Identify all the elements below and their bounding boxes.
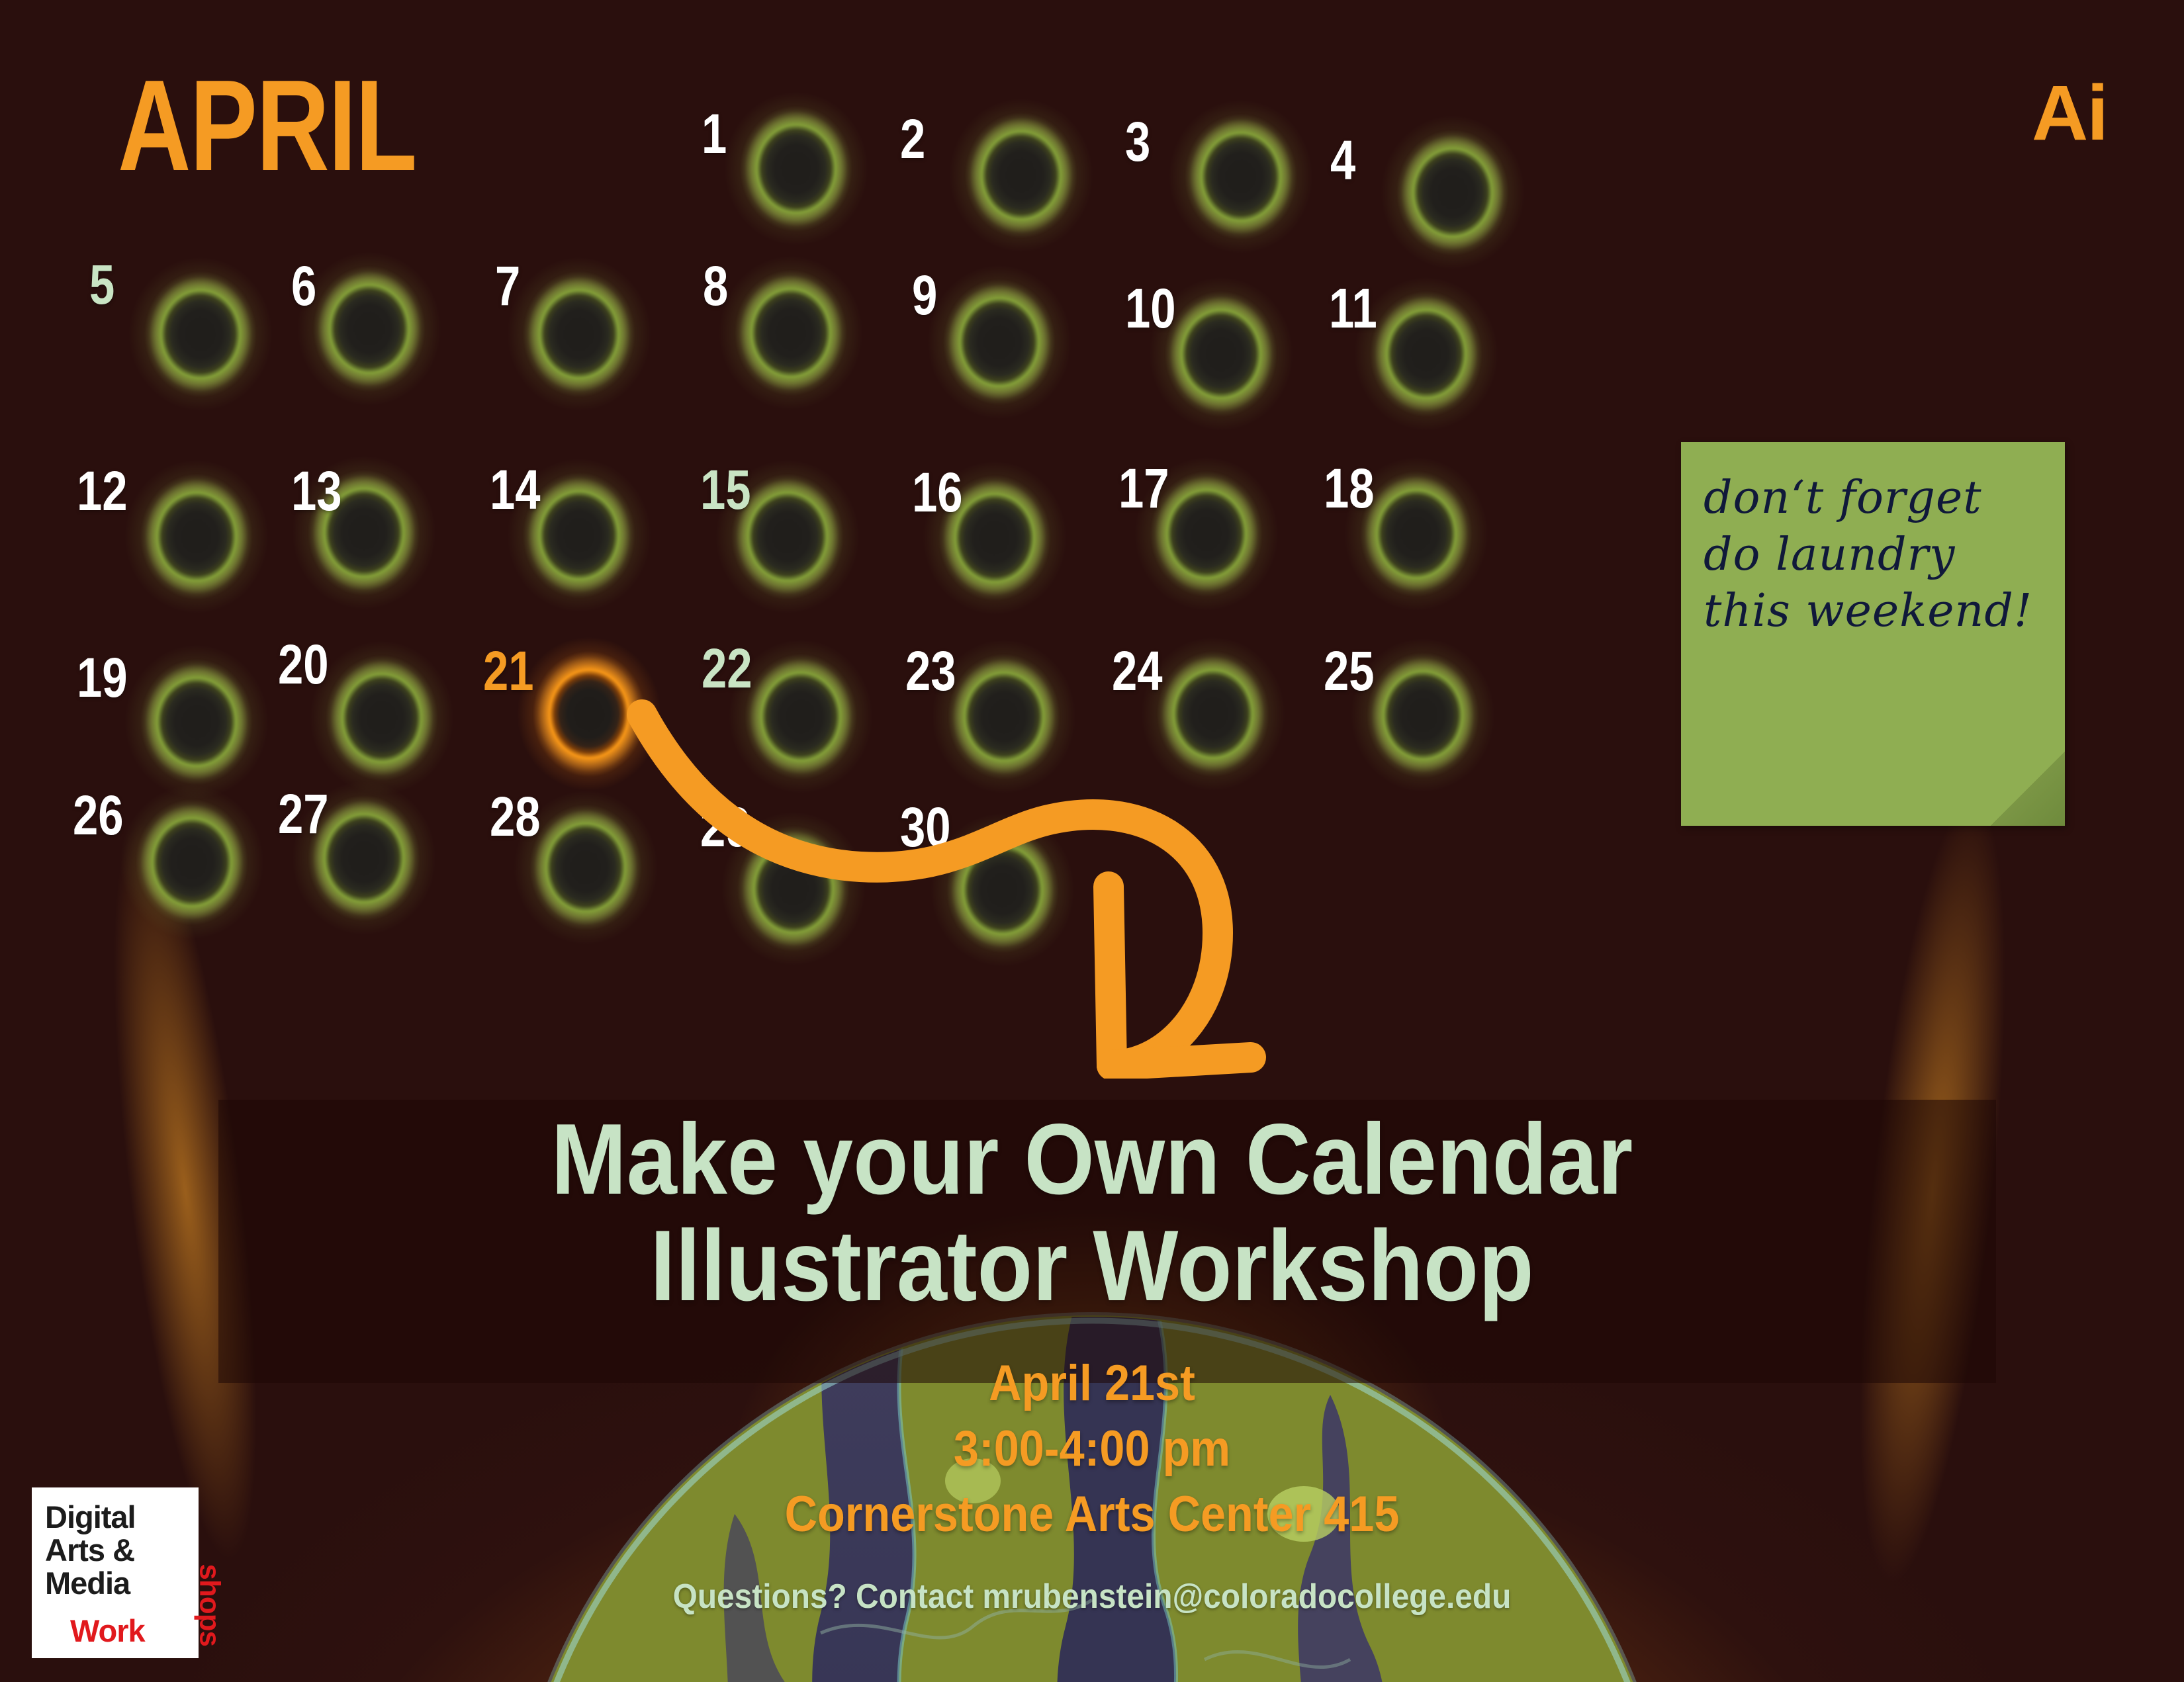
day-number: 4 xyxy=(1330,132,1355,188)
day-number: 29 xyxy=(700,799,751,855)
day-circle-icon xyxy=(1185,114,1297,240)
dam-logo-shops: shops xyxy=(193,1564,226,1646)
day-number: 13 xyxy=(291,463,342,519)
event-details: April 21st 3:00-4:00 pm Cornerstone Arts… xyxy=(109,1351,2075,1547)
day-number: 2 xyxy=(900,111,925,167)
day-circle-icon xyxy=(136,799,248,925)
dam-logo-line-1: Digital xyxy=(45,1501,188,1534)
day-number: 3 xyxy=(1125,114,1150,169)
day-number: 21 xyxy=(483,643,534,699)
event-info-block: Make your Own Calendar Illustrator Works… xyxy=(0,1106,2184,1614)
day-number: 15 xyxy=(700,462,751,517)
day-number: 17 xyxy=(1118,461,1169,516)
day-number: 23 xyxy=(905,643,956,699)
day-circle-icon xyxy=(745,654,857,779)
day-circle-icon xyxy=(529,805,642,930)
day-circle-icon xyxy=(1157,651,1269,777)
day-number: 22 xyxy=(702,641,752,696)
day-number: 8 xyxy=(703,258,728,314)
day-number: 11 xyxy=(1329,281,1377,336)
illustrator-ai-icon: Ai xyxy=(2032,74,2107,152)
day-circle-icon xyxy=(735,270,847,396)
dam-logo-line-3: Media xyxy=(45,1567,188,1600)
day-circle-icon xyxy=(946,827,1059,953)
event-time: 3:00-4:00 pm xyxy=(109,1417,2075,1482)
day-number: 5 xyxy=(89,257,114,312)
day-number: 16 xyxy=(912,465,963,520)
day-circle-icon xyxy=(140,659,253,785)
day-circle-icon xyxy=(523,271,635,397)
day-circle-icon xyxy=(1360,471,1473,597)
day-number: 24 xyxy=(1112,643,1163,699)
day-number: 28 xyxy=(490,789,541,844)
dam-logo-lines: Digital Arts & Media xyxy=(45,1501,188,1599)
day-circle-icon xyxy=(326,655,438,781)
day-number: 6 xyxy=(291,258,316,314)
day-circle-icon xyxy=(140,474,253,599)
day-circle-icon xyxy=(737,826,850,952)
day-circle-icon xyxy=(144,271,257,397)
day-number: 27 xyxy=(278,786,329,842)
event-title-line-2: Illustrator Workshop xyxy=(109,1213,2075,1319)
day-number: 7 xyxy=(495,258,520,314)
sticky-note-fold-icon xyxy=(1991,752,2065,826)
day-circle-icon xyxy=(1165,291,1277,417)
day-number: 20 xyxy=(278,637,329,692)
day-number: 1 xyxy=(702,106,727,161)
event-title: Make your Own Calendar Illustrator Works… xyxy=(109,1106,2075,1319)
day-number: 12 xyxy=(77,463,128,519)
poster-canvas: APRIL Ai 1234567891011121314151617181920… xyxy=(0,0,2184,1682)
day-circle-icon xyxy=(313,266,426,392)
day-circle-icon xyxy=(948,654,1060,779)
event-date: April 21st xyxy=(109,1351,2075,1417)
event-location: Cornerstone Arts Center 415 xyxy=(109,1482,2075,1548)
dam-logo-line-2: Arts & xyxy=(45,1534,188,1567)
calendar-grid: 1234567891011121314151617181920212223242… xyxy=(0,0,1522,959)
event-title-line-1: Make your Own Calendar xyxy=(109,1106,2075,1213)
day-circle-icon xyxy=(1367,652,1479,778)
day-circle-icon xyxy=(740,106,852,232)
sticky-note[interactable]: don‘t forget do laundry this weekend! xyxy=(1681,442,2065,826)
sticky-note-text: don‘t forget do laundry this weekend! xyxy=(1704,470,2053,640)
day-number: 14 xyxy=(490,462,541,517)
dam-logo-work: Work xyxy=(70,1613,145,1649)
day-number: 26 xyxy=(73,787,124,843)
day-circle-icon xyxy=(943,279,1056,405)
day-number: 25 xyxy=(1324,643,1375,699)
dam-workshops-logo: Digital Arts & Media Work shops xyxy=(32,1487,199,1658)
day-circle-icon xyxy=(1370,291,1482,417)
day-number: 18 xyxy=(1324,461,1375,516)
event-contact: Questions? Contact mrubenstein@coloradoc… xyxy=(87,1579,2097,1614)
day-number: 19 xyxy=(77,650,128,705)
day-circle-icon xyxy=(533,651,645,777)
day-number: 30 xyxy=(900,799,951,855)
day-number: 10 xyxy=(1125,281,1176,336)
day-circle-icon xyxy=(1396,130,1509,255)
day-number: 9 xyxy=(912,267,937,323)
day-circle-icon xyxy=(965,112,1077,238)
